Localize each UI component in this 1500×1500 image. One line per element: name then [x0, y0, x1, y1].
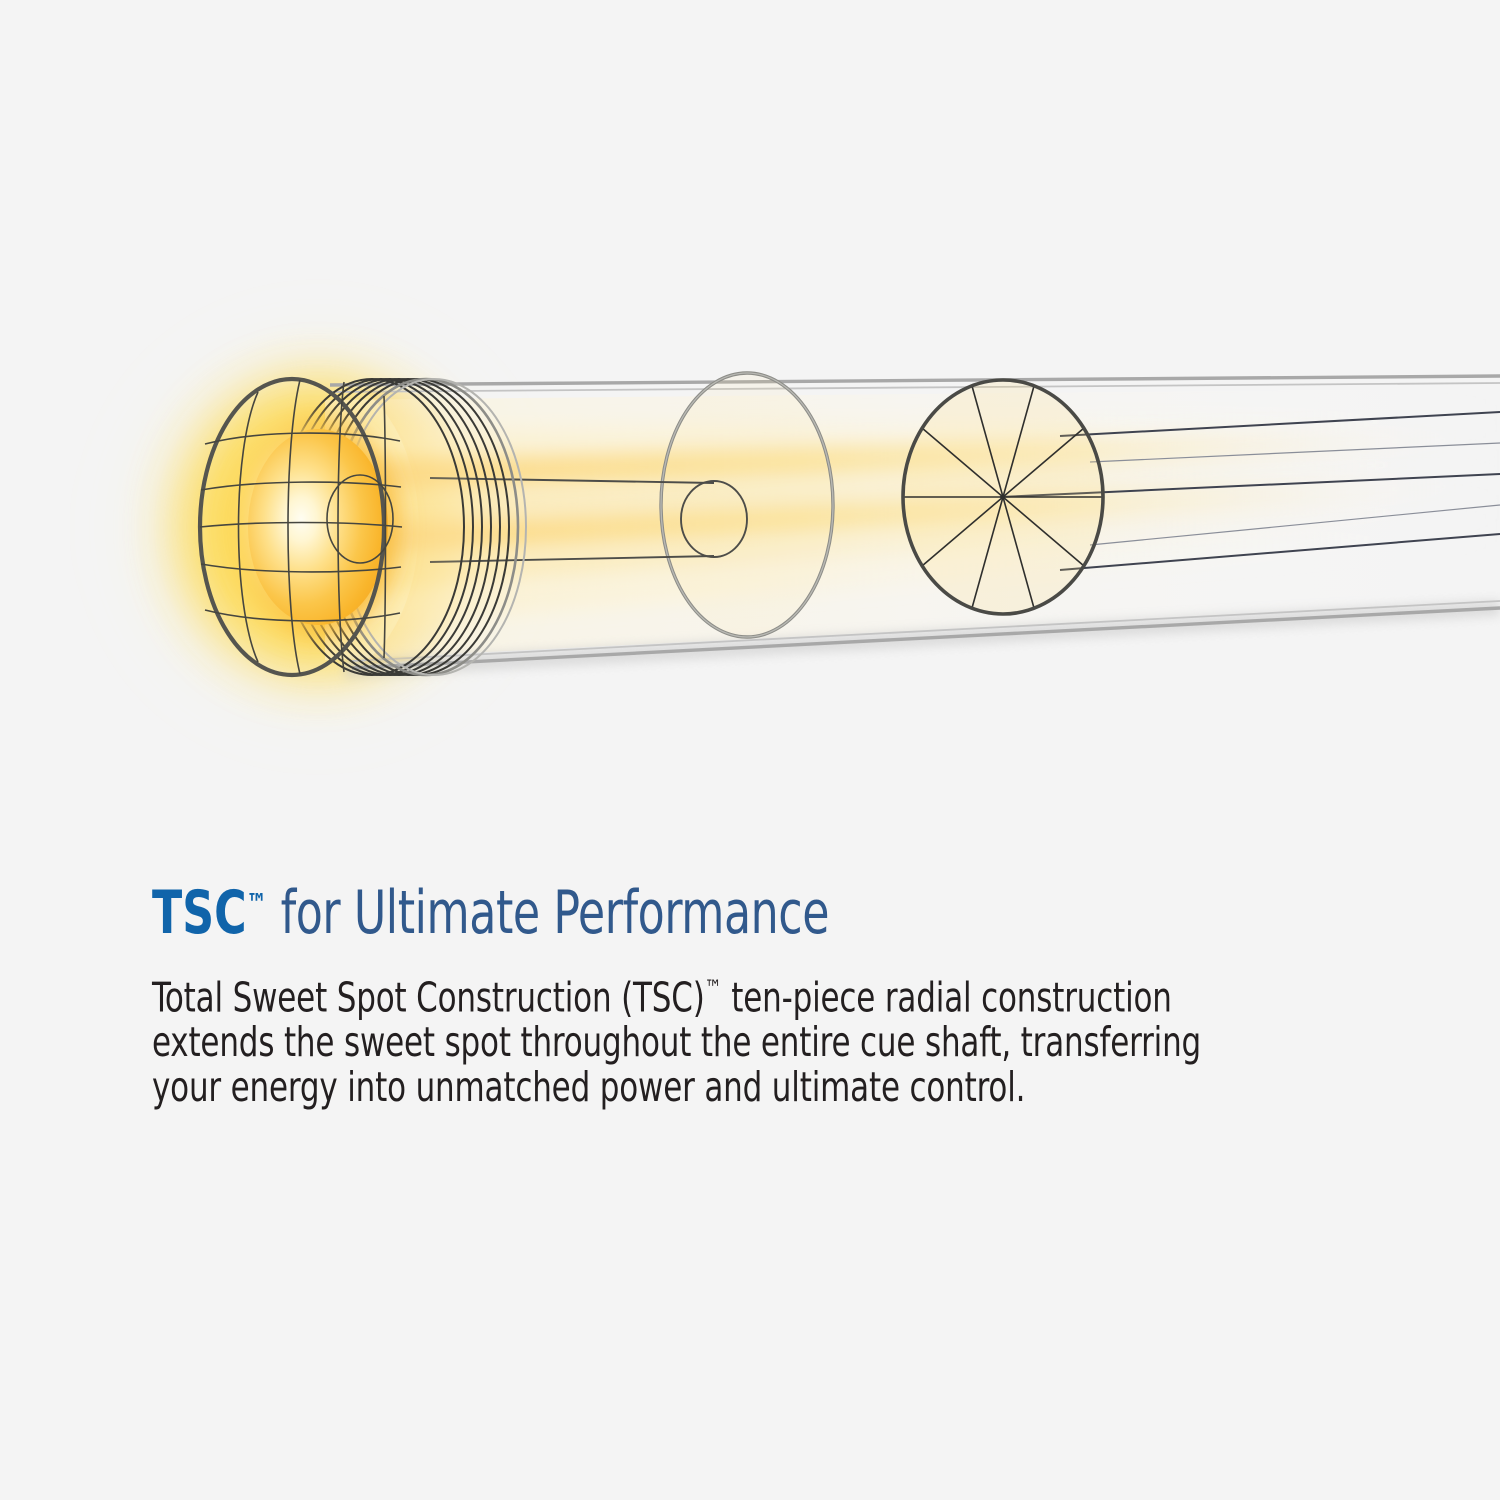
bodycopy-line-2: extends the sweet spot throughout the en… [152, 1020, 1177, 1065]
headline-rest: for Ultimate Performance [267, 878, 829, 948]
tsc-cue-shaft-illustration [0, 0, 1500, 820]
bodycopy-line-1: Total Sweet Spot Construction (TSC)™ ten… [152, 967, 1177, 1020]
radial-spoke-disc [903, 380, 1103, 614]
trademark-icon: ™ [247, 887, 267, 920]
trademark-icon: ™ [705, 976, 722, 1002]
page-root: TSC™ for Ultimate Performance Total Swee… [0, 0, 1500, 1500]
bodycopy-line-3: your energy into unmatched power and ult… [152, 1065, 1177, 1110]
bodycopy-line-1b: ten-piece radial construction [722, 973, 1172, 1021]
tsc-brand-text: TSC [152, 878, 247, 948]
tsc-brand-mark: TSC™ [152, 878, 267, 948]
page-title: TSC™ for Ultimate Performance [152, 872, 1054, 945]
cross-section-disc [661, 373, 833, 637]
text-block: TSC™ for Ultimate Performance Total Swee… [152, 872, 1252, 1110]
bodycopy: Total Sweet Spot Construction (TSC)™ ten… [152, 967, 1177, 1110]
bodycopy-line-1a: Total Sweet Spot Construction (TSC) [152, 973, 705, 1021]
